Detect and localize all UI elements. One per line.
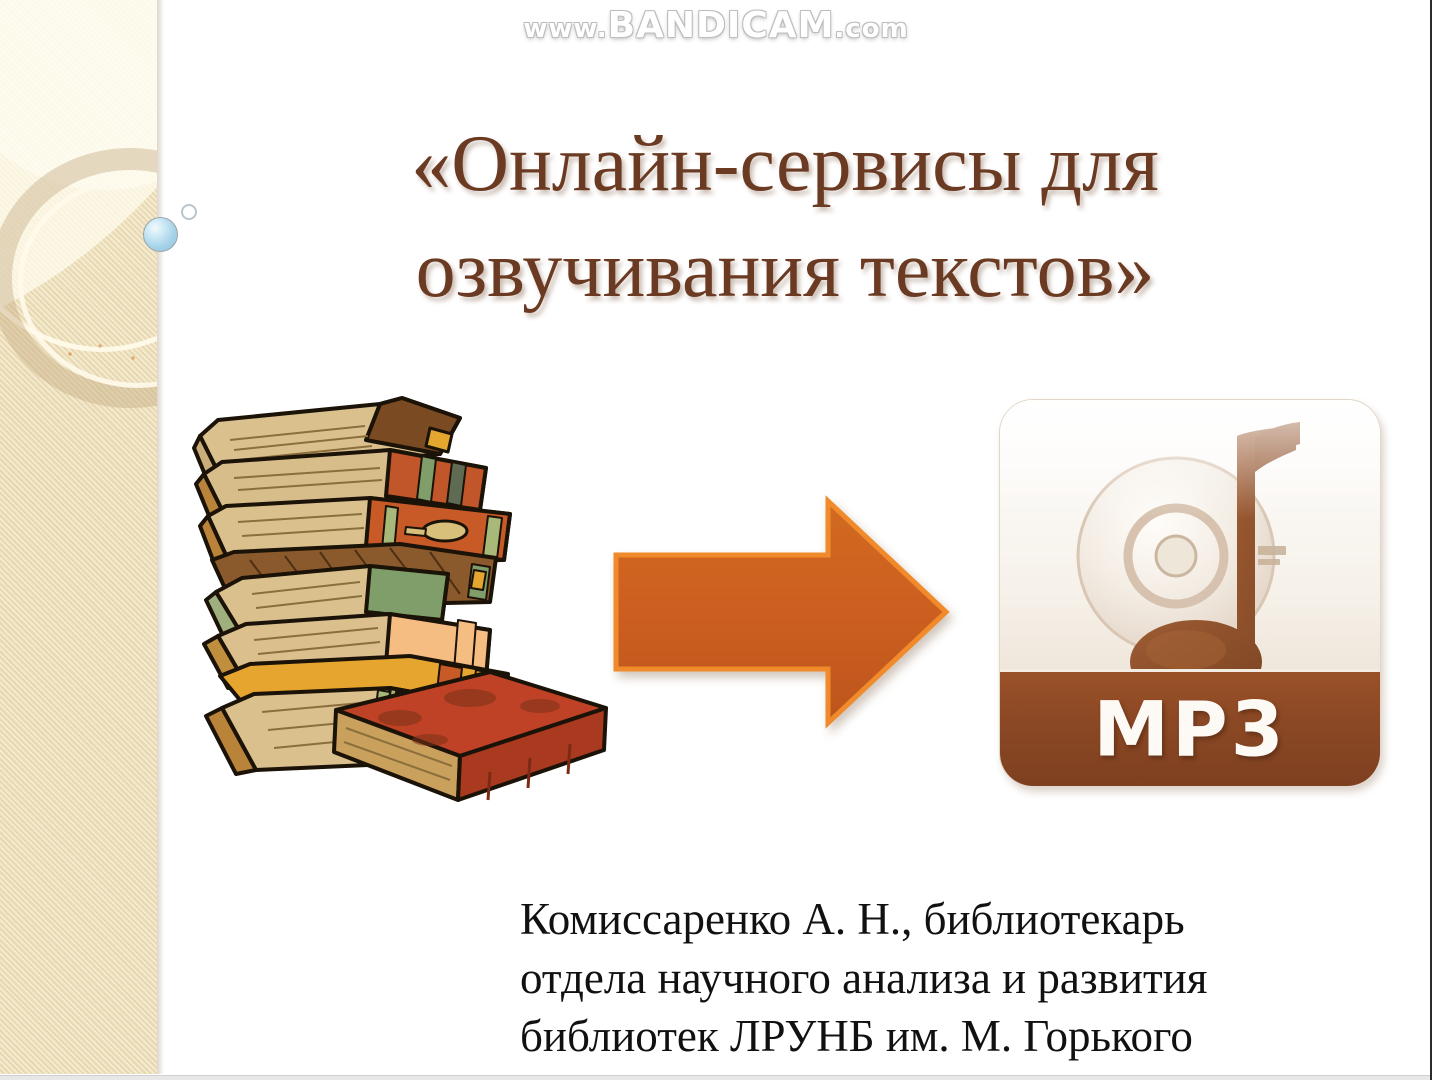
band-edge-shadow — [157, 0, 164, 1074]
author-credit-line-1: Комиссаренко А. Н., библиотекарь — [520, 890, 1420, 949]
blue-sphere-decoration — [143, 217, 178, 252]
decorative-side-band — [0, 0, 157, 1074]
mp3-file-icon: MP3 — [999, 399, 1381, 787]
right-arrow-icon — [606, 495, 954, 730]
mp3-icon-label-band: MP3 — [1000, 669, 1380, 786]
bandicam-watermark: www.BANDICAM.com — [0, 5, 1432, 46]
slide-title-line-2: озвучивания текстов» — [190, 218, 1380, 324]
author-credit: Комиссаренко А. Н., библиотекарь отдела … — [520, 890, 1420, 1066]
author-credit-line-3: библиотек ЛРУНБ им. М. Горького — [520, 1007, 1420, 1066]
stack-of-books-illustration — [190, 388, 660, 833]
slide-title: «Онлайн-сервисы для озвучивания текстов» — [190, 112, 1380, 323]
watermark-suffix: .com — [834, 14, 908, 44]
bottom-divider — [0, 1075, 1432, 1080]
band-speckle-dots — [55, 330, 157, 370]
watermark-brand: BANDICAM — [608, 5, 835, 46]
presentation-slide: www.BANDICAM.com «Онлайн-сервисы для озв… — [0, 0, 1432, 1080]
mp3-label-text: MP3 — [1000, 685, 1380, 774]
slide-title-line-1: «Онлайн-сервисы для — [190, 112, 1380, 218]
author-credit-line-2: отдела научного анализа и развития — [520, 949, 1420, 1008]
watermark-prefix: www. — [523, 14, 607, 44]
